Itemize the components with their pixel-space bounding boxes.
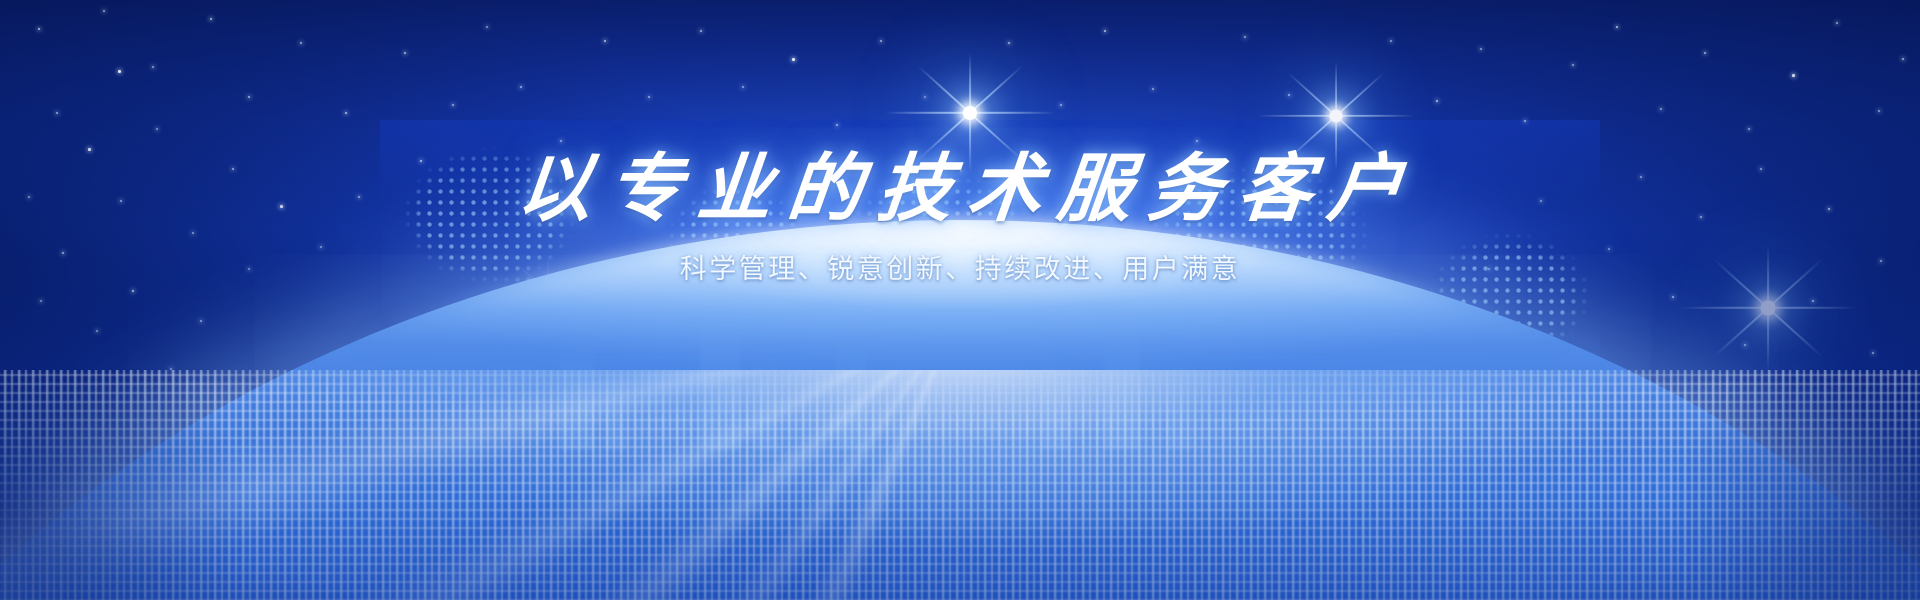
star-dot: [836, 124, 838, 126]
star-dot: [1524, 120, 1526, 122]
star-dot: [1436, 100, 1438, 102]
star-dot: [1152, 88, 1154, 90]
star-dot: [38, 28, 40, 30]
star-dot: [192, 232, 194, 234]
star-dot: [88, 148, 91, 151]
star-dot: [40, 300, 42, 302]
star-dot: [1760, 168, 1762, 170]
star-dot: [200, 320, 202, 322]
star-dot: [1616, 26, 1618, 28]
star-dot: [1704, 52, 1706, 54]
star-dot: [1572, 64, 1574, 66]
star-dot: [300, 42, 302, 44]
star-dot: [486, 26, 488, 28]
star-dot: [28, 196, 30, 198]
star-dot: [320, 246, 322, 248]
star-dot: [1792, 74, 1795, 77]
star-dot: [1700, 216, 1702, 218]
star-dot: [358, 196, 360, 198]
star-dot: [520, 86, 522, 88]
star-dot: [232, 168, 234, 170]
star-dot: [700, 30, 702, 32]
star-dot: [1748, 128, 1750, 130]
star-dot: [1330, 190, 1332, 192]
star-dot: [1288, 94, 1290, 96]
city-left-shade: [0, 370, 420, 600]
star-dot: [1902, 58, 1904, 60]
star-dot: [924, 96, 926, 98]
star-dot: [1104, 30, 1106, 32]
star-dot: [152, 66, 154, 68]
star-dot: [1880, 260, 1882, 262]
star-dot: [560, 140, 562, 142]
star-dot: [792, 58, 795, 61]
star-dot: [156, 128, 158, 130]
star-dot: [452, 104, 454, 106]
star-dot: [1024, 196, 1026, 198]
star-dot: [1812, 300, 1814, 302]
star-dot: [1836, 22, 1838, 24]
city-right-shade: [1500, 370, 1920, 600]
star-dot: [742, 86, 744, 88]
star-dot: [118, 70, 121, 73]
star-dot: [1008, 42, 1010, 44]
star-dot: [420, 160, 422, 162]
star-dot: [880, 40, 882, 42]
star-dot: [604, 40, 606, 42]
star-dot: [404, 52, 406, 54]
star-dot: [1060, 104, 1062, 106]
star-dot: [1660, 108, 1662, 110]
star-dot: [1390, 40, 1392, 42]
star-dot: [1744, 344, 1746, 346]
star-dot: [96, 330, 98, 332]
star-dot: [345, 112, 347, 114]
star-dot: [1878, 110, 1880, 112]
star-dot: [248, 268, 250, 270]
star-dot: [1828, 208, 1830, 210]
star-dot: [56, 112, 58, 114]
star-dot: [1872, 352, 1874, 354]
star-dot: [1480, 48, 1482, 50]
star-dot: [248, 96, 250, 98]
star-dot: [62, 252, 64, 254]
star-dot: [120, 200, 122, 202]
star-dot: [1488, 268, 1490, 270]
star-dot: [1244, 36, 1246, 38]
star-dot: [1640, 176, 1642, 178]
star-dot: [960, 170, 962, 172]
star-dot: [132, 290, 134, 292]
star-dot: [648, 96, 650, 98]
hero-banner: 以专业的技术服务客户 科学管理、锐意创新、持续改进、用户满意: [0, 0, 1920, 600]
star-dot: [1196, 140, 1198, 142]
star-dot: [1672, 296, 1674, 298]
star-dot: [103, 10, 105, 12]
star-dot: [280, 205, 283, 208]
cityscape-lights: [0, 370, 1920, 600]
star-dot: [210, 18, 212, 20]
star-dot: [1608, 248, 1610, 250]
star-dot: [1540, 200, 1542, 202]
